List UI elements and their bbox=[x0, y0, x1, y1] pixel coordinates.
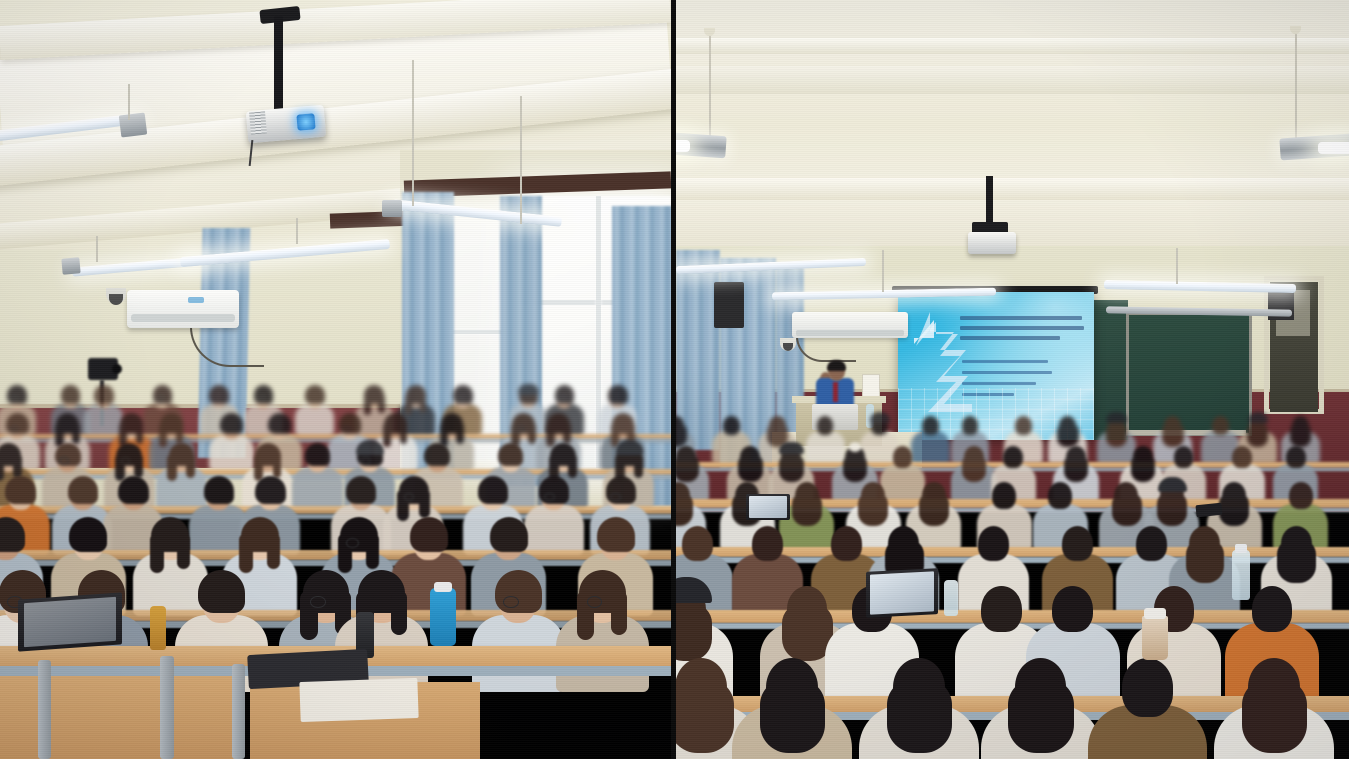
audience-hair bbox=[5, 476, 35, 504]
audience-long-hair bbox=[1186, 539, 1225, 583]
audience-long-hair bbox=[634, 454, 643, 479]
audience-glasses bbox=[544, 493, 555, 502]
audience-long-hair bbox=[528, 423, 536, 445]
audience-long-hair bbox=[405, 394, 412, 415]
light-rod bbox=[412, 60, 414, 206]
light-rod bbox=[128, 84, 130, 120]
wall-notice bbox=[862, 374, 880, 398]
audience-head-back bbox=[1048, 482, 1072, 509]
audience-cap bbox=[870, 412, 891, 423]
ceiling-beam bbox=[676, 178, 1349, 200]
audience-head-back bbox=[978, 526, 1009, 561]
air-conditioner bbox=[127, 290, 239, 328]
audience-head-back bbox=[1286, 446, 1306, 468]
audience-long-hair bbox=[420, 394, 427, 413]
right-photo-panel bbox=[676, 0, 1349, 759]
audience-hair bbox=[539, 476, 569, 504]
audience-hair bbox=[255, 476, 285, 504]
audience-head-back bbox=[1289, 482, 1313, 509]
audience-glasses bbox=[59, 457, 69, 465]
audience-head-back bbox=[1212, 416, 1229, 435]
water-bottle bbox=[944, 580, 958, 616]
wall-loudspeaker bbox=[714, 282, 744, 328]
audience-head-back bbox=[723, 416, 740, 435]
audience-torso bbox=[806, 431, 845, 463]
audience-hair bbox=[490, 517, 528, 552]
audience-long-hair bbox=[0, 454, 4, 481]
audience-head-back bbox=[817, 416, 834, 435]
audience-long-hair bbox=[676, 454, 699, 482]
audience-long-hair bbox=[676, 679, 734, 753]
audience-hair bbox=[69, 517, 107, 552]
audience-long-hair bbox=[779, 454, 804, 482]
audience-cap bbox=[1106, 412, 1127, 423]
slide-bullet-line bbox=[962, 371, 1052, 374]
air-conditioner-display bbox=[188, 297, 204, 303]
audience-head-back bbox=[1232, 446, 1252, 468]
audience-long-hair bbox=[1219, 492, 1249, 526]
light-glow bbox=[676, 140, 690, 152]
light-rod bbox=[296, 218, 298, 244]
light-rod bbox=[709, 36, 711, 136]
audience-long-hair bbox=[167, 454, 177, 481]
audience-head-back bbox=[1174, 446, 1194, 468]
thermos bbox=[150, 606, 166, 650]
laptop-screen bbox=[749, 496, 787, 518]
audience-glasses bbox=[558, 396, 566, 402]
audience-hair bbox=[424, 443, 450, 467]
camera-lens-icon bbox=[112, 364, 122, 374]
audience-torso bbox=[911, 431, 950, 463]
audience-hair bbox=[94, 385, 114, 403]
audience-head-back bbox=[1122, 658, 1174, 717]
light-rod bbox=[1295, 34, 1297, 138]
ceiling-beam bbox=[676, 66, 1349, 94]
audience-hair bbox=[68, 476, 98, 504]
audience-long-hair bbox=[843, 454, 868, 482]
audience-glasses bbox=[10, 426, 19, 433]
left-photo-panel bbox=[0, 0, 671, 759]
audience-long-hair bbox=[456, 423, 464, 445]
audience-long-hair bbox=[1157, 492, 1187, 526]
milk-tea-cup bbox=[1142, 616, 1168, 660]
light-fixture-cap bbox=[61, 257, 80, 275]
audience-long-hair bbox=[738, 454, 763, 482]
projector-lens-icon bbox=[296, 113, 315, 131]
audience-long-hair bbox=[72, 423, 80, 445]
slide-bullet-line bbox=[962, 360, 1048, 363]
audience-long-hair bbox=[378, 394, 385, 413]
audience-cap bbox=[779, 442, 803, 455]
audience-long-hair bbox=[568, 454, 577, 479]
audience-long-hair bbox=[676, 423, 687, 447]
audience-glasses bbox=[10, 396, 18, 402]
presenter-hair bbox=[827, 360, 846, 371]
audience-long-hair bbox=[176, 423, 184, 445]
audience-hair bbox=[305, 443, 331, 467]
audience-long-hair bbox=[546, 423, 555, 447]
audience-long-hair bbox=[563, 423, 571, 445]
audience-long-hair bbox=[383, 423, 392, 447]
audience-long-hair bbox=[136, 423, 144, 445]
audience-long-hair bbox=[1112, 492, 1142, 526]
desk-leg bbox=[232, 664, 245, 759]
front-desk-row bbox=[0, 560, 671, 759]
audience-hair bbox=[305, 385, 325, 403]
audience-long-hair bbox=[1064, 454, 1089, 482]
audience-hair bbox=[118, 476, 148, 504]
laptop-screen bbox=[24, 597, 116, 647]
audience-hair bbox=[346, 476, 376, 504]
slide-bullet-line bbox=[962, 382, 1036, 385]
audience-long-hair bbox=[611, 423, 620, 447]
audience-long-hair bbox=[1242, 679, 1307, 753]
audience-hair bbox=[498, 443, 524, 467]
bottle-cap bbox=[1235, 544, 1247, 553]
audience-glasses bbox=[121, 457, 131, 465]
audience-hair bbox=[268, 413, 291, 434]
panel-divider bbox=[671, 0, 676, 759]
air-conditioner-vent bbox=[131, 314, 235, 322]
air-conditioner-vent bbox=[796, 330, 904, 336]
chalkboard bbox=[1126, 312, 1252, 436]
audience-long-hair bbox=[1277, 539, 1316, 583]
slide-text-line bbox=[960, 336, 1060, 340]
audience-long-hair bbox=[186, 454, 195, 479]
ceiling-projector bbox=[968, 232, 1016, 254]
cup-lid bbox=[1144, 608, 1166, 619]
audience-hair bbox=[606, 476, 636, 504]
audience-long-hair bbox=[273, 454, 282, 479]
projector-vent bbox=[249, 111, 267, 134]
audience-hair bbox=[410, 517, 448, 552]
audience-torso bbox=[295, 404, 334, 437]
audience-long-hair bbox=[1008, 679, 1073, 753]
audience-long-hair bbox=[13, 454, 22, 479]
audience-long-hair bbox=[1247, 423, 1268, 447]
light-glow bbox=[1318, 142, 1349, 154]
audience-hair bbox=[61, 385, 81, 403]
audience-cap bbox=[356, 440, 383, 454]
audience-long-hair bbox=[760, 679, 825, 753]
audience-torso bbox=[880, 464, 925, 502]
audience-glasses bbox=[516, 426, 525, 433]
audience-long-hair bbox=[887, 679, 952, 753]
audience-long-hair bbox=[364, 394, 371, 415]
audience-hair bbox=[204, 476, 234, 504]
notebook bbox=[299, 678, 418, 722]
light-fixture-cap bbox=[119, 112, 147, 137]
audience-head-back bbox=[1062, 526, 1093, 561]
audience-glasses bbox=[156, 396, 164, 402]
projector-pole bbox=[274, 16, 283, 112]
audience-long-hair bbox=[1131, 454, 1156, 482]
water-bottle bbox=[430, 588, 456, 646]
desk-leg bbox=[160, 656, 174, 759]
audience-long-hair bbox=[962, 454, 987, 482]
audience-long-hair bbox=[919, 492, 949, 526]
audience-hair bbox=[478, 476, 508, 504]
light-fixture-cap bbox=[382, 200, 402, 217]
audience-glasses bbox=[257, 396, 265, 402]
audience-hair bbox=[608, 385, 628, 403]
audience-torso bbox=[209, 435, 254, 473]
audience-head-back bbox=[1015, 416, 1032, 435]
audience-long-hair bbox=[419, 489, 429, 518]
audience-head-back bbox=[1136, 526, 1167, 561]
audience-head-back bbox=[922, 416, 939, 435]
audience-long-hair bbox=[1106, 423, 1127, 447]
audience-long-hair bbox=[1057, 423, 1078, 447]
audience-glasses bbox=[361, 457, 371, 465]
audience-long-hair bbox=[1162, 423, 1183, 447]
audience-long-hair bbox=[1290, 423, 1311, 447]
water-bottle bbox=[1232, 550, 1250, 600]
audience-head-back bbox=[1252, 586, 1293, 632]
slide-text-line bbox=[960, 326, 1084, 330]
desk-leg bbox=[38, 660, 51, 759]
audience-long-hair bbox=[159, 423, 168, 447]
audience-glasses bbox=[456, 396, 464, 402]
audience-head-back bbox=[992, 482, 1016, 509]
desk-front-panel bbox=[0, 676, 240, 759]
audience-cap bbox=[1248, 412, 1269, 423]
audience-torso bbox=[524, 505, 584, 555]
audience-head-back bbox=[893, 446, 913, 468]
audience-hair bbox=[220, 413, 243, 434]
audience-long-hair bbox=[254, 454, 264, 481]
ceiling-beam bbox=[676, 38, 1349, 54]
screenshot-root bbox=[0, 0, 1349, 759]
hair-clip bbox=[849, 442, 861, 451]
audience-head-back bbox=[981, 586, 1022, 632]
audience-hair bbox=[209, 385, 229, 403]
audience-cap bbox=[616, 440, 643, 454]
bottle-cap bbox=[434, 582, 452, 592]
audience-long-hair bbox=[134, 454, 143, 479]
audience-long-hair bbox=[400, 423, 408, 445]
audience-head-back bbox=[1052, 586, 1093, 632]
audience-torso bbox=[84, 404, 123, 437]
audience-torso bbox=[156, 467, 207, 510]
audience-head-back bbox=[1003, 446, 1023, 468]
audience-head-back bbox=[962, 416, 979, 435]
audience-cap bbox=[518, 384, 539, 395]
audience-crowd bbox=[676, 420, 1349, 759]
audience-head-back bbox=[682, 526, 713, 561]
presenter-tie bbox=[833, 382, 838, 402]
audience-long-hair bbox=[676, 603, 712, 661]
audience-torso bbox=[292, 467, 343, 510]
laptop-screen bbox=[870, 571, 934, 614]
audience-long-hair bbox=[792, 492, 822, 526]
light-rod bbox=[882, 250, 884, 292]
light-rod bbox=[96, 236, 98, 262]
audience-hair bbox=[597, 517, 635, 552]
audience-long-hair bbox=[858, 492, 888, 526]
audience-head-back bbox=[752, 526, 783, 561]
light-rod bbox=[1176, 248, 1178, 284]
audience-glasses bbox=[342, 426, 351, 433]
slide-text-line bbox=[960, 316, 1082, 320]
audience-head-back bbox=[831, 526, 862, 561]
light-rod bbox=[520, 96, 522, 224]
